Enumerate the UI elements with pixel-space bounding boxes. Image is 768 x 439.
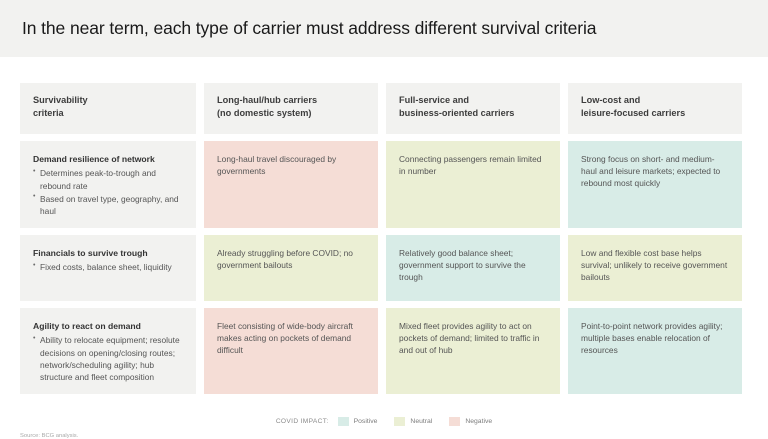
criteria-title: Demand resilience of network: [33, 153, 184, 165]
legend-item-neutral: Neutral: [394, 417, 432, 426]
criteria-bullet: Fixed costs, balance sheet, liquidity: [33, 261, 184, 273]
table-row-criteria-agility: Agility to react on demand Ability to re…: [20, 308, 196, 394]
legend-item-label: Negative: [465, 418, 492, 425]
table-cell-r2c3: Low and flexible cost base helps surviva…: [568, 235, 742, 301]
column-header-long-haul-hub-carriers: Long-haul/hub carriers (no domestic syst…: [204, 83, 378, 134]
column-header-survivability-criteria: Survivability criteria: [20, 83, 196, 134]
column-header-line1: Low-cost and: [581, 94, 730, 107]
cell-text: Fleet consisting of wide-body aircraft m…: [217, 321, 353, 355]
legend-item-label: Neutral: [410, 418, 432, 425]
table-cell-r1c3: Strong focus on short- and medium-haul a…: [568, 141, 742, 228]
cell-text: Already struggling before COVID; no gove…: [217, 248, 353, 270]
table-cell-r1c2: Connecting passengers remain limited in …: [386, 141, 560, 228]
column-header-line2: criteria: [33, 107, 184, 120]
table-cell-r2c2: Relatively good balance sheet; governmen…: [386, 235, 560, 301]
legend: COVID IMPACT: Positive Neutral Negative: [0, 417, 768, 426]
cell-text: Long-haul travel discouraged by governme…: [217, 154, 336, 176]
legend-item-negative: Negative: [449, 417, 492, 426]
criteria-bullet-list: Fixed costs, balance sheet, liquidity: [33, 261, 184, 273]
legend-label: COVID IMPACT:: [276, 418, 329, 425]
legend-swatch-neutral-icon: [394, 417, 405, 426]
table-cell-r1c1: Long-haul travel discouraged by governme…: [204, 141, 378, 228]
legend-swatch-negative-icon: [449, 417, 460, 426]
survival-criteria-table: Survivability criteria Long-haul/hub car…: [20, 83, 748, 394]
table-row-criteria-financials: Financials to survive trough Fixed costs…: [20, 235, 196, 301]
cell-text: Point-to-point network provides agility;…: [581, 321, 723, 355]
column-header-line1: Long-haul/hub carriers: [217, 94, 366, 107]
column-header-low-cost-carriers: Low-cost and leisure-focused carriers: [568, 83, 742, 134]
cell-text: Strong focus on short- and medium-haul a…: [581, 154, 720, 188]
cell-text: Mixed fleet provides agility to act on p…: [399, 321, 539, 355]
cell-text: Low and flexible cost base helps surviva…: [581, 248, 727, 282]
content-area: Survivability criteria Long-haul/hub car…: [0, 57, 768, 402]
column-header-line1: Full-service and: [399, 94, 548, 107]
column-header-full-service-carriers: Full-service and business-oriented carri…: [386, 83, 560, 134]
table-cell-r3c2: Mixed fleet provides agility to act on p…: [386, 308, 560, 394]
legend-item-label: Positive: [354, 418, 378, 425]
criteria-bullet-list: Ability to relocate equipment; resolute …: [33, 334, 184, 383]
criteria-bullet: Based on travel type, geography, and hau…: [33, 193, 184, 218]
column-header-line2: leisure-focused carriers: [581, 107, 730, 120]
source-note: Source: BCG analysis.: [20, 433, 78, 439]
table-row-criteria-demand-resilience: Demand resilience of network Determines …: [20, 141, 196, 228]
column-header-line2: (no domestic system): [217, 107, 366, 120]
table-cell-r3c3: Point-to-point network provides agility;…: [568, 308, 742, 394]
title-bar: In the near term, each type of carrier m…: [0, 0, 768, 57]
column-header-line1: Survivability: [33, 94, 184, 107]
criteria-title: Agility to react on demand: [33, 320, 184, 332]
table-cell-r2c1: Already struggling before COVID; no gove…: [204, 235, 378, 301]
criteria-bullet-list: Determines peak-to-trough and rebound ra…: [33, 167, 184, 217]
criteria-bullet: Determines peak-to-trough and rebound ra…: [33, 167, 184, 192]
table-cell-r3c1: Fleet consisting of wide-body aircraft m…: [204, 308, 378, 394]
criteria-title: Financials to survive trough: [33, 247, 184, 259]
cell-text: Connecting passengers remain limited in …: [399, 154, 541, 176]
page-title: In the near term, each type of carrier m…: [22, 18, 596, 39]
column-header-line2: business-oriented carriers: [399, 107, 548, 120]
cell-text: Relatively good balance sheet; governmen…: [399, 248, 526, 282]
legend-swatch-positive-icon: [338, 417, 349, 426]
criteria-bullet: Ability to relocate equipment; resolute …: [33, 334, 184, 383]
legend-item-positive: Positive: [338, 417, 378, 426]
